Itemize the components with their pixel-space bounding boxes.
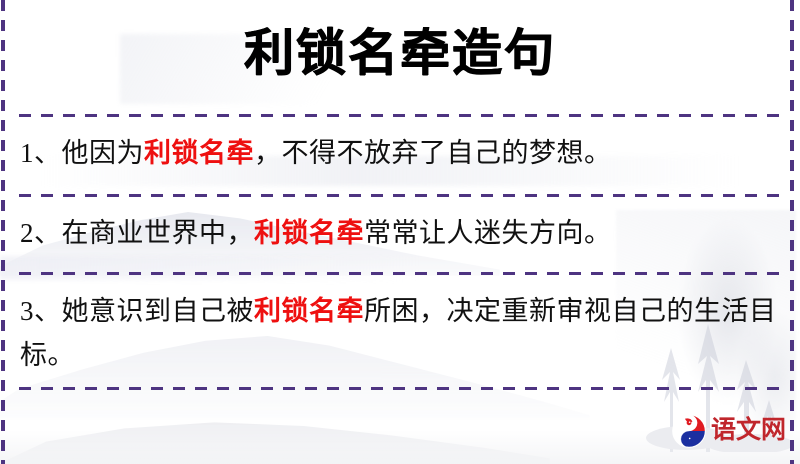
sentence-card-page: 利锁名牵造句 1、他因为利锁名牵，不得不放弃了自己的梦想。 2、在商业世界中，利… (0, 0, 800, 464)
separator-1 (19, 114, 781, 117)
sentence-text-after-2: 常常让人迷失方向。 (364, 218, 612, 248)
sentence-item-2: 2、在商业世界中，利锁名牵常常让人迷失方向。 (20, 211, 780, 255)
separator-3 (19, 272, 781, 275)
keyword-highlight-1: 利锁名牵 (144, 138, 254, 168)
background-mist-band-lower (0, 256, 420, 280)
keyword-highlight-3: 利锁名牵 (254, 296, 364, 326)
sentence-text-before-3: 她意识到自己被 (62, 296, 255, 326)
sentence-number-3: 3、 (20, 296, 62, 326)
sentence-text-after-1: ，不得不放弃了自己的梦想。 (254, 138, 612, 168)
sentence-text-before-2: 在商业世界中， (62, 218, 255, 248)
background-low-bank (0, 408, 550, 464)
sentence-number-1: 1、 (20, 138, 62, 168)
sentence-item-1: 1、他因为利锁名牵，不得不放弃了自己的梦想。 (20, 131, 780, 175)
separator-4 (19, 387, 781, 390)
page-title: 利锁名牵造句 (0, 22, 800, 84)
right-dashed-border (790, 0, 794, 464)
yinyang-circle-icon (672, 414, 706, 448)
left-dashed-border (1, 0, 5, 464)
site-logo[interactable]: 语文网 (672, 414, 786, 448)
sentence-number-2: 2、 (20, 218, 62, 248)
sentence-text-before-1: 他因为 (62, 138, 145, 168)
separator-2 (19, 194, 781, 197)
keyword-highlight-2: 利锁名牵 (254, 218, 364, 248)
sentence-item-3: 3、她意识到自己被利锁名牵所困，决定重新审视自己的生活目标。 (20, 289, 780, 377)
site-logo-text: 语文网 (711, 418, 786, 444)
